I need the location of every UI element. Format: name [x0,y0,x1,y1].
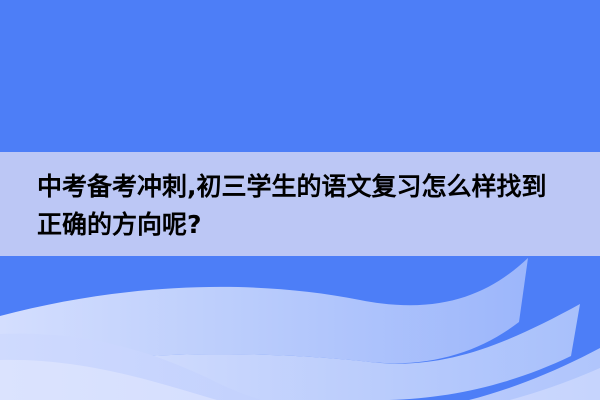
banner-title: 中考备考冲刺,初三学生的语文复习怎么样找到正确的方向呢? [37,168,571,244]
top-color-band [0,0,600,152]
banner-canvas: 中考备考冲刺,初三学生的语文复习怎么样找到正确的方向呢? [0,0,600,400]
decorative-waves [0,256,600,400]
